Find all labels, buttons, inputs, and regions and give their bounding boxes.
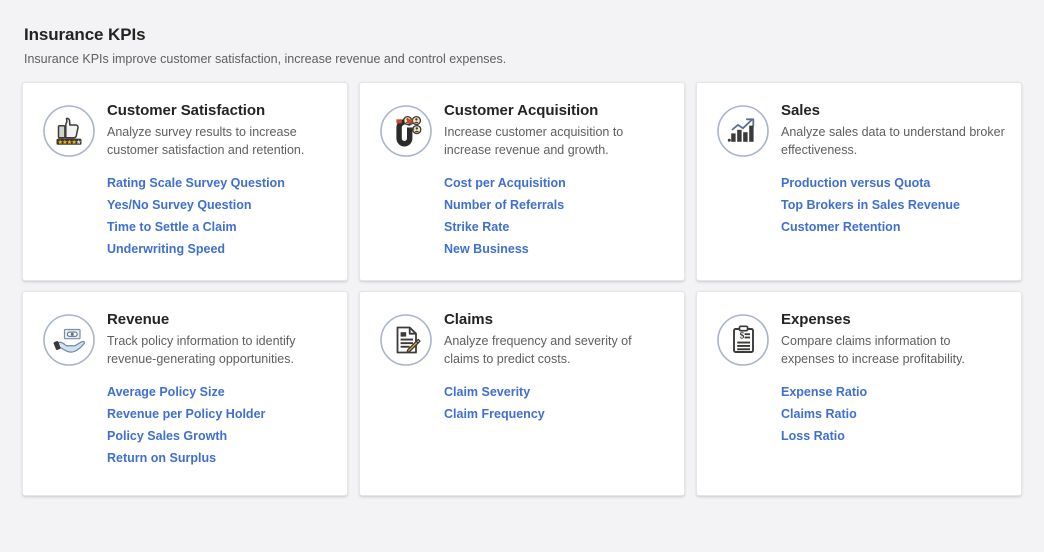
card-link[interactable]: Claims Ratio [781,403,857,425]
thumbs-up-rating-icon [41,103,97,159]
list-item: Claims Ratio [781,403,1005,425]
list-item: Cost per Acquisition [444,172,668,194]
card-link[interactable]: Policy Sales Growth [107,425,227,447]
card-link[interactable]: Number of Referrals [444,194,564,216]
card-link-list: Average Policy Size Revenue per Policy H… [107,381,331,469]
list-item: Revenue per Policy Holder [107,403,331,425]
page-title: Insurance KPIs [24,24,1044,46]
invoice-dollar-icon: $ [715,312,771,368]
card-title: Expenses [781,310,1005,330]
list-item: Expense Ratio [781,381,1005,403]
card-link[interactable]: Return on Surplus [107,447,216,469]
card-link[interactable]: Top Brokers in Sales Revenue [781,194,960,216]
document-pencil-icon [378,312,434,368]
card-description: Analyze survey results to increase custo… [107,124,331,159]
card-body: Sales Analyze sales data to understand b… [781,99,1005,238]
kpi-card-customer-satisfaction[interactable]: Customer Satisfaction Analyze survey res… [22,82,348,281]
list-item: New Business [444,238,668,260]
card-description: Analyze sales data to understand broker … [781,124,1005,159]
kpi-card-claims[interactable]: Claims Analyze frequency and severity of… [359,291,685,496]
card-title: Customer Acquisition [444,101,668,121]
insurance-kpis-page: Insurance KPIs Insurance KPIs improve cu… [0,0,1044,552]
card-link[interactable]: Customer Retention [781,216,900,238]
hand-money-icon [41,312,97,368]
list-item: Yes/No Survey Question [107,194,331,216]
card-title: Claims [444,310,668,330]
card-link-list: Rating Scale Survey Question Yes/No Surv… [107,172,331,260]
card-link-list: Claim Severity Claim Frequency [444,381,668,425]
card-link[interactable]: Claim Severity [444,381,530,403]
card-description: Increase customer acquisition to increas… [444,124,668,159]
card-link-list: Expense Ratio Claims Ratio Loss Ratio [781,381,1005,447]
card-link[interactable]: Yes/No Survey Question [107,194,252,216]
card-link[interactable]: Loss Ratio [781,425,845,447]
list-item: Loss Ratio [781,425,1005,447]
card-link[interactable]: Rating Scale Survey Question [107,172,285,194]
page-header: Insurance KPIs Insurance KPIs improve cu… [0,0,1044,68]
list-item: Average Policy Size [107,381,331,403]
card-description: Compare claims information to expenses t… [781,333,1005,368]
card-link[interactable]: Production versus Quota [781,172,930,194]
list-item: Production versus Quota [781,172,1005,194]
kpi-card-expenses[interactable]: $ Expenses Compare claims information to… [696,291,1022,496]
card-link[interactable]: Expense Ratio [781,381,867,403]
card-link-list: Cost per Acquisition Number of Referrals… [444,172,668,260]
card-link[interactable]: Time to Settle a Claim [107,216,237,238]
list-item: Top Brokers in Sales Revenue [781,194,1005,216]
card-link[interactable]: New Business [444,238,529,260]
list-item: Claim Severity [444,381,668,403]
list-item: Underwriting Speed [107,238,331,260]
card-link[interactable]: Underwriting Speed [107,238,225,260]
card-body: Customer Acquisition Increase customer a… [444,99,668,260]
card-link[interactable]: Average Policy Size [107,381,225,403]
list-item: Strike Rate [444,216,668,238]
card-title: Customer Satisfaction [107,101,331,121]
list-item: Policy Sales Growth [107,425,331,447]
magnet-customers-icon [378,103,434,159]
list-item: Customer Retention [781,216,1005,238]
card-body: Revenue Track policy information to iden… [107,308,331,469]
card-title: Revenue [107,310,331,330]
list-item: Number of Referrals [444,194,668,216]
list-item: Rating Scale Survey Question [107,172,331,194]
card-link-list: Production versus Quota Top Brokers in S… [781,172,1005,238]
card-link[interactable]: Revenue per Policy Holder [107,403,265,425]
card-body: Expenses Compare claims information to e… [781,308,1005,447]
kpi-card-revenue[interactable]: Revenue Track policy information to iden… [22,291,348,496]
kpi-card-customer-acquisition[interactable]: Customer Acquisition Increase customer a… [359,82,685,281]
card-body: Customer Satisfaction Analyze survey res… [107,99,331,260]
card-link[interactable]: Strike Rate [444,216,509,238]
list-item: Time to Settle a Claim [107,216,331,238]
card-link[interactable]: Cost per Acquisition [444,172,566,194]
card-description: Analyze frequency and severity of claims… [444,333,668,368]
page-subtitle: Insurance KPIs improve customer satisfac… [24,51,1044,68]
card-title: Sales [781,101,1005,121]
bar-chart-growth-icon [715,103,771,159]
list-item: Return on Surplus [107,447,331,469]
list-item: Claim Frequency [444,403,668,425]
kpi-card-grid: Customer Satisfaction Analyze survey res… [0,82,1044,496]
card-body: Claims Analyze frequency and severity of… [444,308,668,425]
card-description: Track policy information to identify rev… [107,333,331,368]
svg-text:$: $ [740,331,745,342]
card-link[interactable]: Claim Frequency [444,403,545,425]
kpi-card-sales[interactable]: Sales Analyze sales data to understand b… [696,82,1022,281]
